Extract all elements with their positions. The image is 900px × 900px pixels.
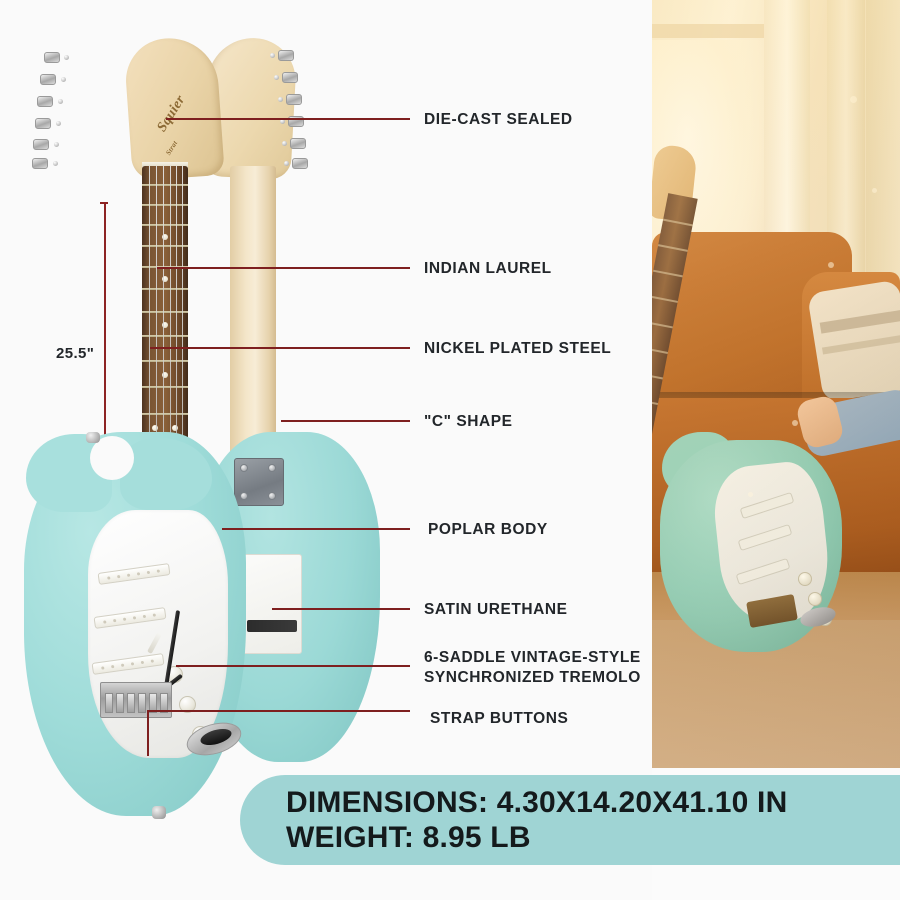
pickup-pole xyxy=(101,666,104,669)
pickup-pole xyxy=(137,572,140,575)
photo-guitar-knob xyxy=(808,592,822,606)
tuner-peg xyxy=(44,52,60,63)
tuner-peg xyxy=(282,72,298,83)
pickup-pole xyxy=(143,615,146,618)
tuner-peg xyxy=(33,139,49,150)
pickup-pole xyxy=(153,613,156,616)
pickup-pole xyxy=(121,664,124,667)
pickup-pole xyxy=(157,569,160,572)
pickup-pole xyxy=(107,576,110,579)
leader-line-strap-buttons xyxy=(147,710,410,712)
photo-fret xyxy=(652,397,658,404)
tuner-post xyxy=(64,55,69,60)
tuner-post xyxy=(54,142,59,147)
tuner-post xyxy=(56,121,61,126)
pickup-pole xyxy=(141,661,144,664)
inlay-dot xyxy=(172,425,178,431)
pickup-pole xyxy=(151,659,154,662)
dimensions-weight-banner: DIMENSIONS: 4.30X14.20X41.10 IN WEIGHT: … xyxy=(240,775,900,865)
tuner-peg xyxy=(32,158,48,169)
pickup-pole xyxy=(127,574,130,577)
callout-poplar-body: POPLAR BODY xyxy=(428,520,548,540)
photo-fret xyxy=(663,219,693,226)
leader-line-nickel-plated-steel xyxy=(150,347,410,349)
tuner-post xyxy=(282,141,287,146)
callout-strap-buttons: STRAP BUTTONS xyxy=(430,709,568,729)
infographic-page: 25.5" xyxy=(0,0,900,900)
photo-fret xyxy=(658,244,688,251)
photo-bokeh xyxy=(850,96,857,103)
pickup-pole xyxy=(103,620,106,623)
strap-button-upper xyxy=(86,432,100,443)
strap-button-lower xyxy=(152,806,166,819)
tuner-post xyxy=(58,99,63,104)
callout-c-shape: "C" SHAPE xyxy=(424,412,513,432)
callout-indian-laurel: INDIAN LAUREL xyxy=(424,259,552,279)
tuner-post xyxy=(61,77,66,82)
leader-line-strap-buttons-vertical xyxy=(147,710,149,756)
tuner-post xyxy=(284,161,289,166)
tuner-post xyxy=(270,53,275,58)
photo-guitar-knob xyxy=(798,572,812,586)
callout-nickel-plated-steel: NICKEL PLATED STEEL xyxy=(424,339,611,359)
leader-line-tremolo xyxy=(176,665,410,667)
neck-plate-screw xyxy=(268,492,276,500)
tuner-peg xyxy=(35,118,51,129)
tuner-peg xyxy=(292,158,308,169)
photo-fret xyxy=(652,346,668,353)
tuner-peg xyxy=(286,94,302,105)
leader-line-satin-urethane xyxy=(272,608,410,610)
pickup-pole xyxy=(117,575,120,578)
guitar-front-view: Squier Strat xyxy=(24,34,264,794)
photo-fret xyxy=(653,270,683,277)
photo-bokeh xyxy=(828,262,834,268)
pickup-pole xyxy=(113,619,116,622)
tuner-post xyxy=(274,75,279,80)
tuner-post xyxy=(53,161,58,166)
callout-tremolo: 6-SADDLE VINTAGE-STYLE SYNCHRONIZED TREM… xyxy=(424,648,641,688)
bridge-saddle xyxy=(138,693,146,713)
tuner-peg xyxy=(37,96,53,107)
pickup-pole xyxy=(147,571,150,574)
callout-die-cast-sealed: DIE-CAST SEALED xyxy=(424,110,573,130)
bridge-saddle xyxy=(127,693,135,713)
tremolo-bridge xyxy=(100,682,172,718)
tuner-peg xyxy=(40,74,56,85)
pickup-pole xyxy=(131,662,134,665)
photo-bokeh xyxy=(748,492,753,497)
bridge-saddle xyxy=(116,693,124,713)
callout-satin-urethane: SATIN URETHANE xyxy=(424,600,567,620)
leader-line-indian-laurel xyxy=(157,267,410,269)
inlay-dot xyxy=(152,425,158,431)
leader-line-poplar-body xyxy=(222,528,410,530)
photo-fret xyxy=(652,372,663,379)
photo-fret xyxy=(652,295,678,302)
diagram-panel: 25.5" xyxy=(0,0,652,900)
photo-fret xyxy=(652,321,673,328)
photo-bokeh xyxy=(792,420,798,426)
photo-window-frame xyxy=(652,24,764,38)
lifestyle-photo xyxy=(652,0,900,768)
leader-line-die-cast-sealed xyxy=(166,118,410,120)
tuner-peg xyxy=(278,50,294,61)
pickup-pole xyxy=(133,616,136,619)
dimensions-weight-text: DIMENSIONS: 4.30X14.20X41.10 IN WEIGHT: … xyxy=(240,785,787,855)
neck-plate-screw xyxy=(268,464,276,472)
photo-bokeh xyxy=(872,188,877,193)
pickup-pole xyxy=(123,618,126,621)
bridge-saddle xyxy=(105,693,113,713)
pickup-pole xyxy=(111,665,114,668)
tuner-peg xyxy=(290,138,306,149)
leader-line-c-shape xyxy=(281,420,410,422)
tuner-post xyxy=(278,97,283,102)
